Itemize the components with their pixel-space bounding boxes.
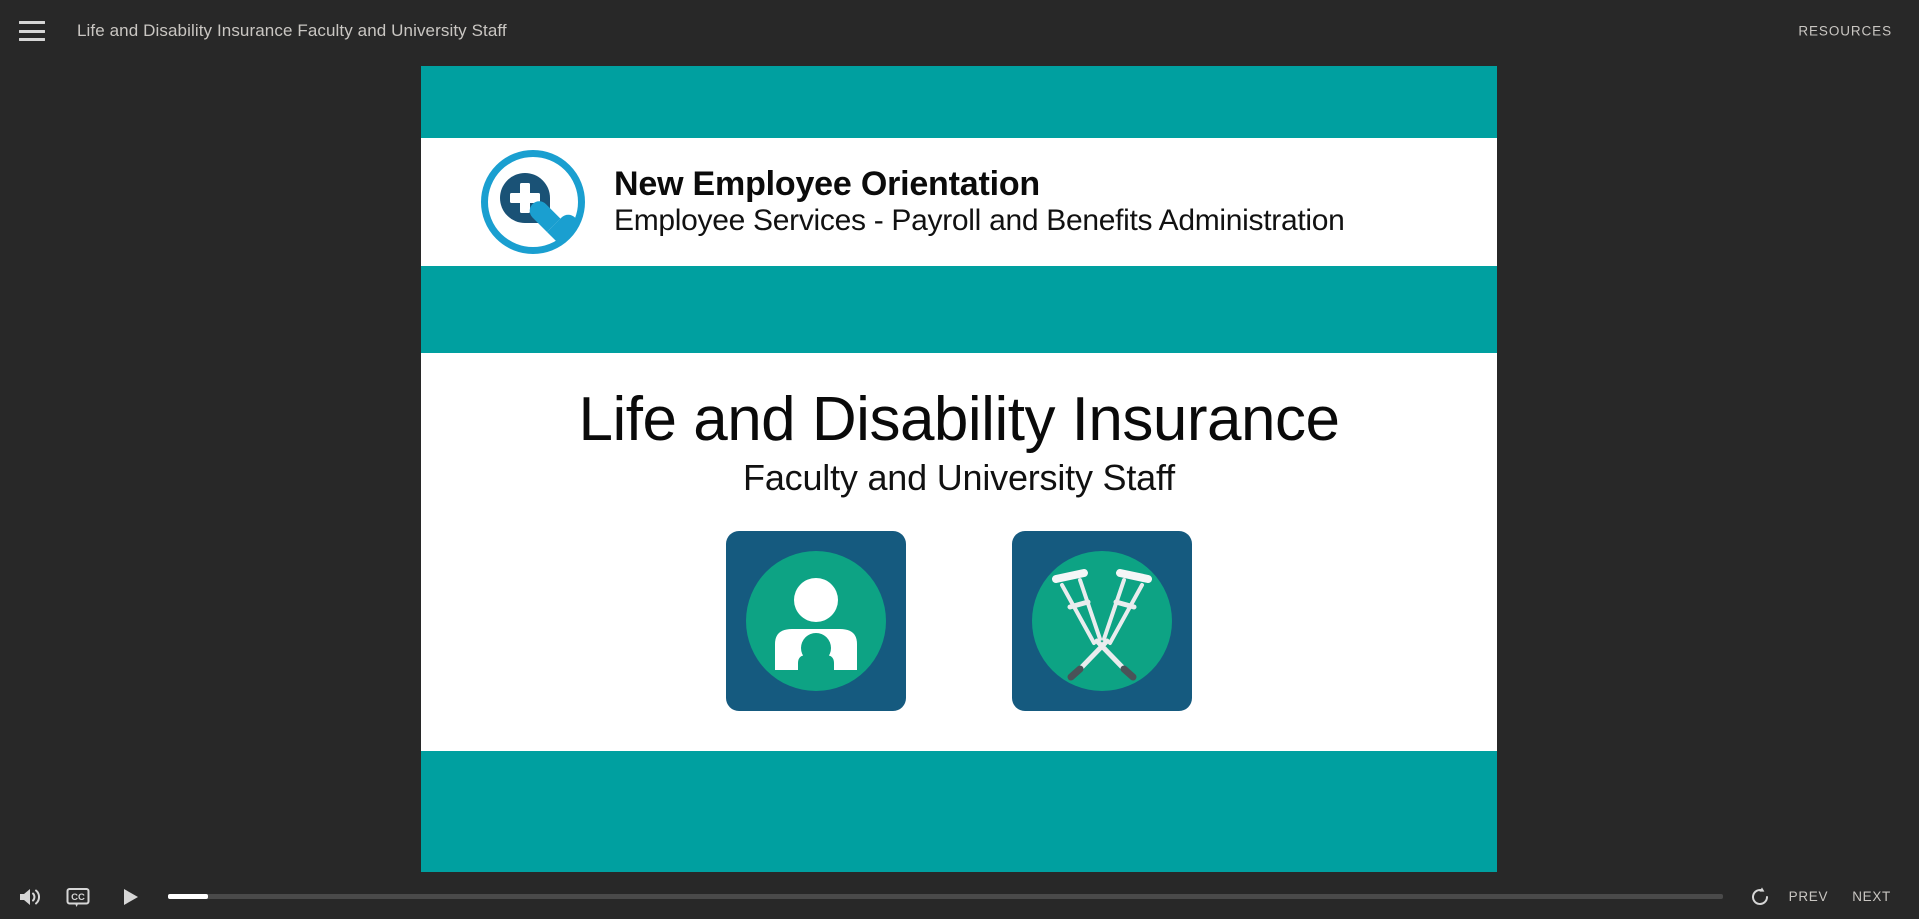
course-title: Life and Disability Insurance Faculty an… xyxy=(77,21,507,41)
closed-caption-icon[interactable]: CC xyxy=(63,882,93,912)
slide: New Employee Orientation Employee Servic… xyxy=(421,66,1497,872)
resources-button[interactable]: RESOURCES xyxy=(1798,24,1892,39)
tile-life-insurance xyxy=(726,531,906,711)
top-bar: Life and Disability Insurance Faculty an… xyxy=(0,0,1919,62)
player-control-bar: CC PREV NEXT xyxy=(0,874,1919,919)
slide-heading: Life and Disability Insurance xyxy=(421,387,1497,453)
logo-heart-icon xyxy=(528,202,566,240)
tile-disc xyxy=(1032,551,1172,691)
slide-bottom-band xyxy=(421,751,1497,872)
brand-title: New Employee Orientation xyxy=(614,165,1345,203)
slide-icon-tiles xyxy=(421,531,1497,711)
health-benefits-logo-icon xyxy=(481,150,585,254)
volume-icon[interactable] xyxy=(14,882,44,912)
brand-subtitle: Employee Services - Payroll and Benefits… xyxy=(614,204,1345,239)
replay-icon[interactable] xyxy=(1745,882,1775,912)
slide-middle-band xyxy=(421,266,1497,353)
play-icon[interactable] xyxy=(115,882,145,912)
brand-text-block: New Employee Orientation Employee Servic… xyxy=(614,165,1345,239)
progress-track[interactable] xyxy=(168,894,1723,899)
prev-button[interactable]: PREV xyxy=(1789,889,1829,904)
seek-bar[interactable] xyxy=(168,886,1723,908)
hamburger-menu-icon[interactable] xyxy=(19,21,45,41)
tile-disc xyxy=(746,551,886,691)
slide-stage: New Employee Orientation Employee Servic… xyxy=(0,62,1919,874)
slide-top-band xyxy=(421,66,1497,138)
hamburger-bar xyxy=(19,21,45,24)
family-person-icon xyxy=(746,551,886,691)
next-button[interactable]: NEXT xyxy=(1852,889,1891,904)
slide-subheading: Faculty and University Staff xyxy=(421,457,1497,499)
hamburger-bar xyxy=(19,30,45,33)
tile-disability-insurance xyxy=(1012,531,1192,711)
hamburger-bar xyxy=(19,38,45,41)
crutches-icon xyxy=(1032,551,1172,691)
slide-brand-header: New Employee Orientation Employee Servic… xyxy=(421,138,1497,266)
svg-text:CC: CC xyxy=(71,892,85,903)
progress-fill xyxy=(168,894,208,899)
slide-body: Life and Disability Insurance Faculty an… xyxy=(421,353,1497,751)
